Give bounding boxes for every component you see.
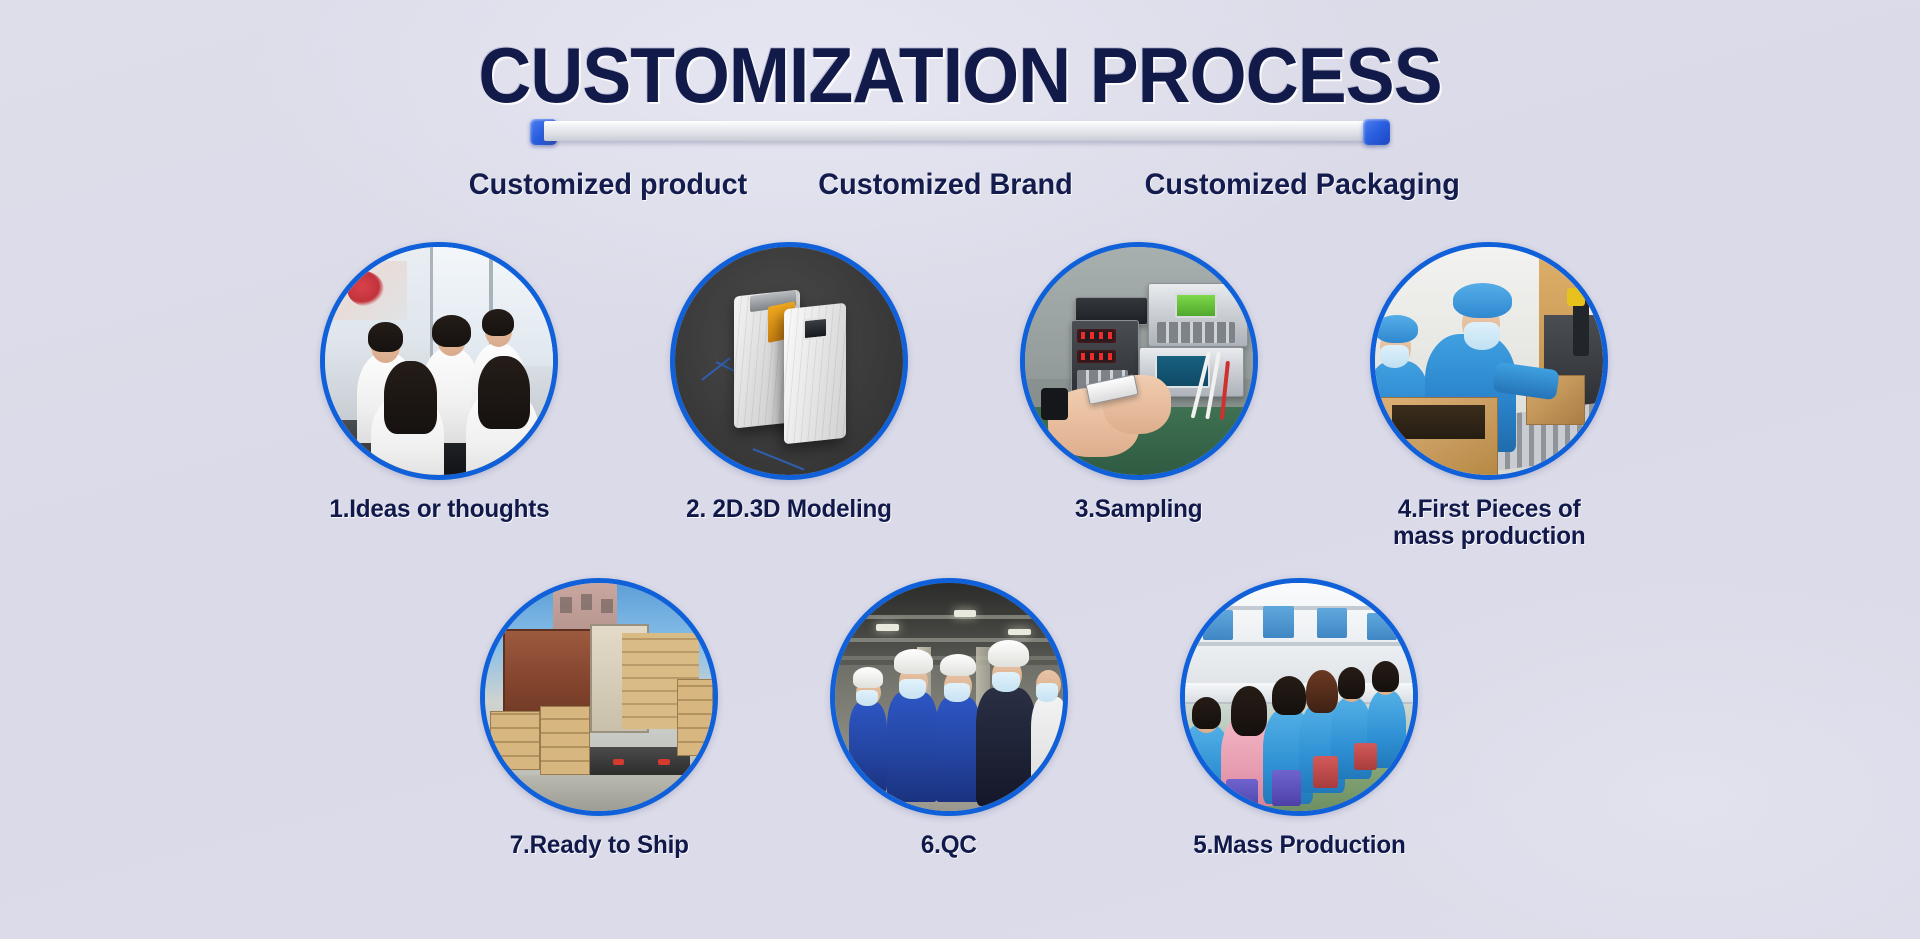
subtitle-customized-brand: Customized Brand bbox=[819, 168, 1073, 202]
step-1-label: 1.Ideas or thoughts bbox=[329, 496, 549, 523]
title-bar-body bbox=[544, 121, 1376, 141]
step-6-circle[interactable] bbox=[830, 578, 1068, 816]
process-row-top: 1.Ideas or thoughts 2. 2D.3D Modeling bbox=[310, 242, 1618, 550]
step-6-qc[interactable]: 6.QC bbox=[820, 578, 1078, 859]
step-3-label: 3.Sampling bbox=[1075, 496, 1202, 523]
container-loading-photo bbox=[485, 583, 713, 811]
bar-cap-right-icon bbox=[1363, 119, 1390, 145]
process-row-bottom: 7.Ready to Ship bbox=[470, 578, 1428, 859]
step-7-circle[interactable] bbox=[480, 578, 718, 816]
packing-line-photo bbox=[1375, 247, 1603, 475]
assembly-line-photo bbox=[1185, 583, 1413, 811]
subtitle-row: Customized product Customized Brand Cust… bbox=[0, 168, 1920, 202]
step-3-sampling[interactable]: 3.Sampling bbox=[1010, 242, 1268, 523]
subtitle-customized-product: Customized product bbox=[469, 168, 747, 202]
step-5-mass-production[interactable]: 5.Mass Production bbox=[1170, 578, 1428, 859]
factory-inspection-photo bbox=[835, 583, 1063, 811]
step-1-circle[interactable] bbox=[320, 242, 558, 480]
title-underline-bar bbox=[530, 119, 1390, 145]
step-4-label: 4.First Pieces of mass production bbox=[1393, 496, 1585, 550]
step-7-label: 7.Ready to Ship bbox=[509, 832, 688, 859]
subtitle-customized-packaging: Customized Packaging bbox=[1145, 168, 1460, 202]
step-7-ready-to-ship[interactable]: 7.Ready to Ship bbox=[470, 578, 728, 859]
customization-process-infographic: CUSTOMIZATION PROCESS Customized product… bbox=[0, 0, 1920, 939]
lab-testing-photo bbox=[1025, 247, 1253, 475]
cad-render-photo bbox=[675, 247, 903, 475]
step-1-ideas[interactable]: 1.Ideas or thoughts bbox=[310, 242, 568, 523]
step-2-modeling[interactable]: 2. 2D.3D Modeling bbox=[660, 242, 918, 523]
step-4-first-pieces[interactable]: 4.First Pieces of mass production bbox=[1360, 242, 1618, 550]
step-2-label: 2. 2D.3D Modeling bbox=[686, 496, 892, 523]
step-2-circle[interactable] bbox=[670, 242, 908, 480]
team-meeting-photo bbox=[325, 247, 553, 475]
step-4-circle[interactable] bbox=[1370, 242, 1608, 480]
step-6-label: 6.QC bbox=[921, 832, 977, 859]
step-5-label: 5.Mass Production bbox=[1193, 832, 1405, 859]
step-5-circle[interactable] bbox=[1180, 578, 1418, 816]
step-3-circle[interactable] bbox=[1020, 242, 1258, 480]
header: CUSTOMIZATION PROCESS bbox=[0, 36, 1920, 145]
page-title: CUSTOMIZATION PROCESS bbox=[58, 36, 1863, 116]
